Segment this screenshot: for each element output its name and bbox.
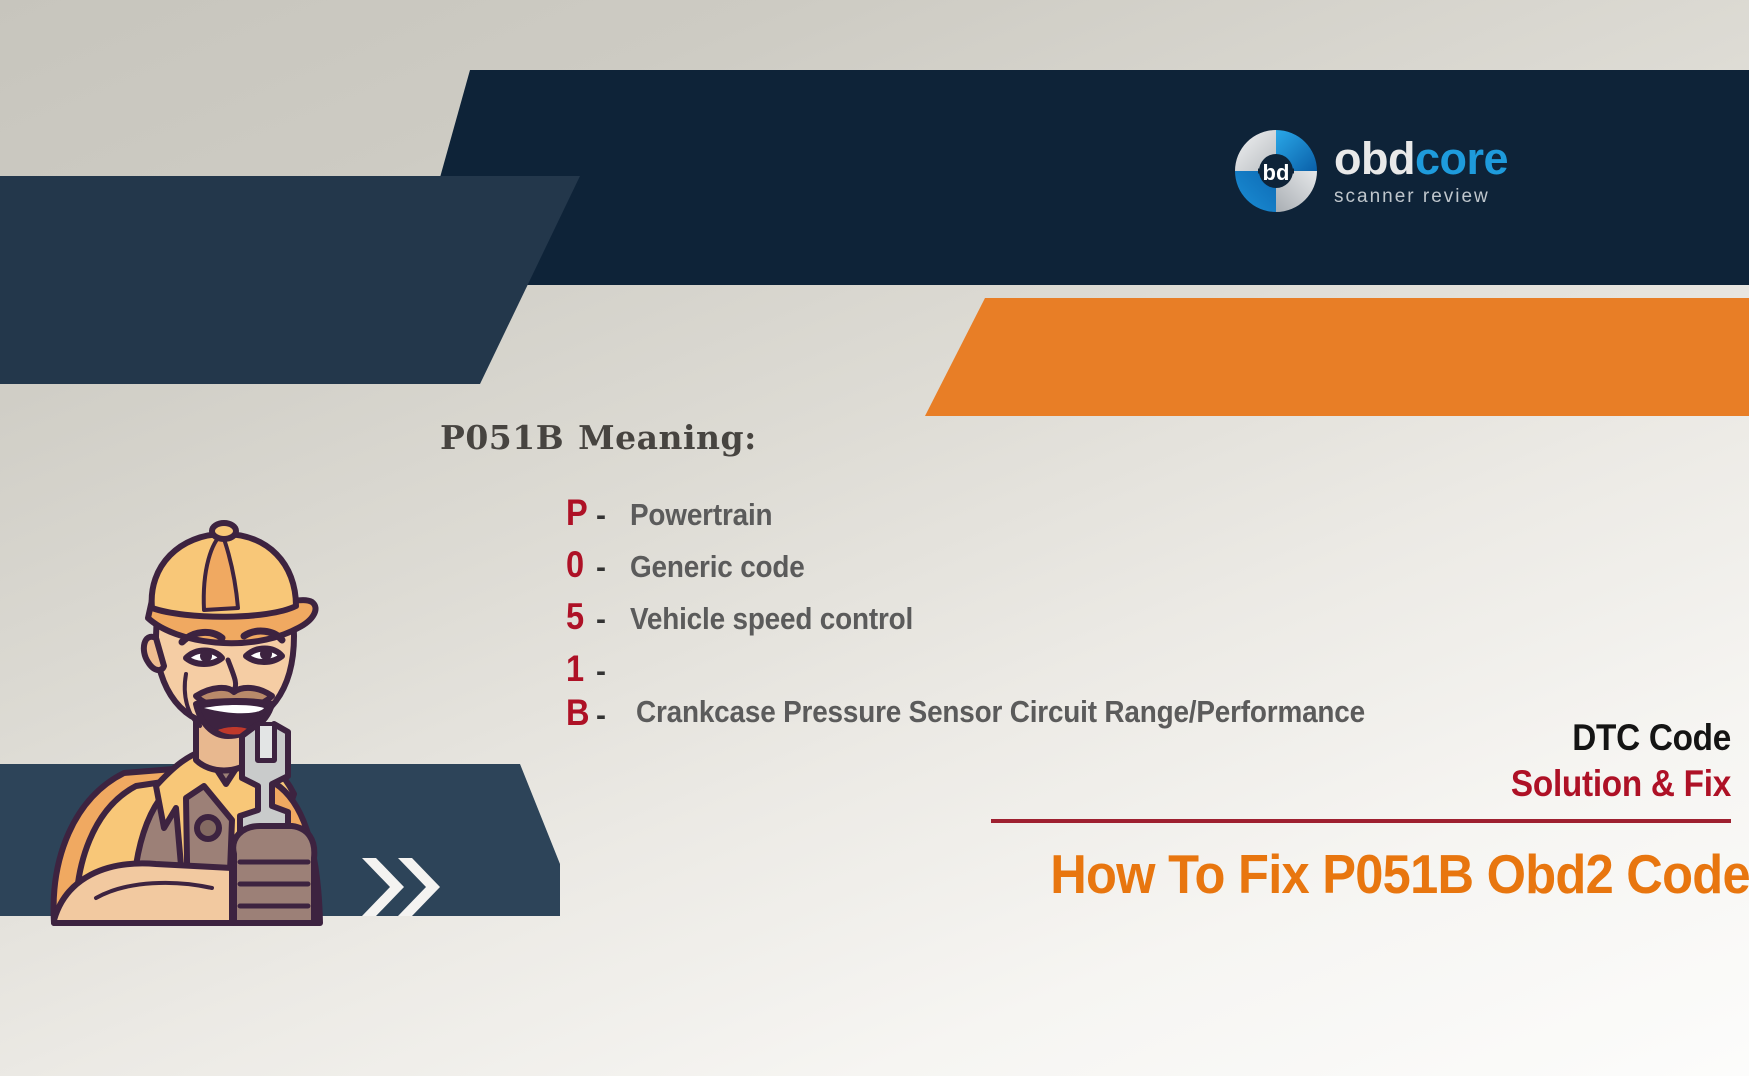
- mechanic-mascot-illustration: [36, 468, 366, 928]
- logo-text-block: obdcore scanner review: [1334, 136, 1508, 206]
- infographic-canvas: bd obdcore scanner review: [0, 0, 1749, 1076]
- list-item: 1 -: [566, 648, 1466, 692]
- code-dash: -: [596, 655, 630, 689]
- code-label: Vehicle speed control: [630, 601, 913, 637]
- logo-wordmark: obdcore: [1334, 136, 1508, 181]
- svg-text:bd: bd: [1263, 160, 1290, 185]
- code-dash: -: [596, 603, 630, 637]
- brand-logo[interactable]: bd obdcore scanner review: [1232, 122, 1512, 220]
- divider-rule: [991, 819, 1731, 823]
- navy-band-left-shape: [0, 176, 580, 384]
- code-dash: -: [596, 551, 630, 585]
- solution-fix-label: Solution & Fix: [1065, 762, 1731, 806]
- headline: How To Fix P051B Obd2 Code: [1050, 845, 1731, 903]
- dtc-title-block: DTC Code Solution & Fix How To Fix P051B…: [991, 718, 1731, 903]
- code-char: 5: [566, 596, 592, 638]
- orange-accent-band-shape: [925, 298, 1749, 416]
- navy-band-top-shape: [410, 70, 1749, 285]
- meaning-title-code: P051B: [440, 418, 564, 457]
- code-dash: -: [596, 699, 630, 733]
- code-char: 1: [566, 648, 592, 690]
- code-char: P: [566, 492, 592, 534]
- list-item: 5 - Vehicle speed control: [566, 596, 1466, 648]
- obdcore-ring-icon: bd: [1232, 127, 1320, 215]
- logo-word-obd: obd: [1334, 133, 1415, 184]
- logo-word-core: core: [1415, 133, 1508, 184]
- chevron-arrows-icon: [360, 856, 450, 918]
- code-char: 0: [566, 544, 592, 586]
- dtc-code-label: DTC Code: [1065, 718, 1731, 758]
- code-label: Powertrain: [630, 497, 772, 533]
- list-item: P - Powertrain: [566, 492, 1466, 544]
- meaning-title-suffix: Meaning:: [578, 418, 757, 457]
- logo-tagline: scanner review: [1334, 187, 1508, 206]
- code-dash: -: [596, 499, 630, 533]
- code-char: B: [566, 692, 592, 734]
- list-item: 0 - Generic code: [566, 544, 1466, 596]
- code-label: Generic code: [630, 549, 805, 585]
- page-title: P051BMeaning:: [440, 418, 757, 457]
